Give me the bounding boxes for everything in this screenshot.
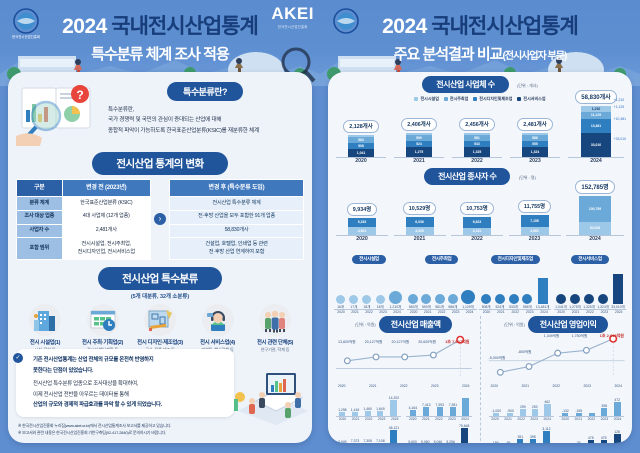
intro-section: ? 특수분류란? 특수분류란, 국가 경쟁력 및 국민의 관심이 증대되는 산업… [8,72,312,148]
subgroup-1-label-0: 563개 [408,304,418,309]
yr: 2024 [462,384,470,388]
classification-item-4: 전시 관련 단체(5) 연구기관, 학계 등 [248,304,302,353]
change-section-title: 전시산업 통계의 변화 [8,152,312,175]
subgroup-1: 전시주최업 563개 590개 581개 586개 1,129개 2020 20… [407,247,477,314]
subgroup-1-years: 2020 2021 2022 2023 2024 [407,310,477,314]
sales-title-row: (단위 : 억원) 전시산업 매출액 [332,316,476,333]
v: 253 [532,405,538,409]
v: 5,046 [434,440,443,443]
employee-year-2023: 2023 [509,236,561,242]
footnotes: ※ 한국전시산업진흥회 누리집(www.akei.or.kr)에서 전시산업통계… [18,423,171,437]
business-bar-2022: 581 533 1,325 [464,133,490,157]
svg-text:?: ? [76,88,83,102]
business-count-plot: 2,128개사 563 508 1,041 2020 2,406개사 [336,104,624,164]
classification-icons-row: 전시 시설업(1) 시설, 장치 등 전시 주최·기획업(2) 전시선 행사계획… [8,300,312,353]
v: -1,000 [491,409,501,413]
yr: 2021 [351,310,359,314]
employee-year-2022: 2022 [451,236,503,242]
profit-subbar-group-3: -35 475 475 128 2020 2021 2022 2023 [559,425,624,443]
sales-revenue-chart: (단위 : 억원) 전시산업 매출액 13,820억원 [332,316,476,443]
special-classification-title: 전시산업 특수분류 [8,267,312,290]
v: 7,413 [422,403,431,407]
yr: 2021 [572,310,580,314]
yr: 2024 [614,384,622,388]
employee-total-2023: 11,755명 [518,200,551,213]
subgroup-0-years: 2020 2021 2022 2023 2024 [334,310,404,314]
table-header-row: 구분 변경 전 (2023년) [17,180,151,197]
employee-count-plot: 9,934명 5,333 4,601 2020 10,529명 6,036 [336,188,624,242]
classification-item-3: 전시 서비스업(4) 마케팅, 행사진행 등 [191,304,245,353]
note-line-0: 기존 전시산업통계는 산업 전체의 규모를 온전히 반영하지 [33,355,227,366]
summary-note: ✓ 기존 전시산업통계는 산업 전체의 규모를 온전히 반영하지 못한다는 단점… [16,349,234,417]
v: 472 [614,398,621,402]
row-after-3: 건설업, 호텔업, 인쇄업 등 관련 전·후방 산업 연계하여 포함 [170,238,304,260]
row-label-1: 조사 대상 업종 [17,210,63,224]
sales-years: 2020 2021 2022 2023 2024 [332,384,476,388]
subgroup-2-label-2: 533개 [509,304,519,309]
yr: 2022 [586,310,594,314]
akei-wordmark: AKEI [271,4,314,24]
row-before-0: 한국표준산업분류 (KSIC) [62,197,150,211]
yr: 2022 [588,417,596,421]
yr: 2021 [497,310,505,314]
left-title: 국내전시산업통계 [111,15,258,38]
employee-bar-2024: 100,759 52,026 [579,196,611,235]
yr: 2021 [422,417,430,421]
right-card: 전시산업 사업체 수 (단위 : 개사) 전시시설업 전시주최업 전시디자인및제… [328,72,632,443]
row-after-2: 58,830개사 [170,224,304,238]
subgroup-bars-0: 16개 17개 18개 18개 1,210개 [334,269,404,309]
v: -159 [492,441,499,443]
subgroup-0-label-4: 1,210개 [389,304,402,309]
employee-year-2020: 2020 [336,236,388,242]
classification-label-4: 전시 관련 단체(5) [248,338,302,346]
intro-lines: 특수분류란, 국가 경쟁력 및 국민의 관심이 증대되는 산업에 대해 종합적 … [108,105,302,136]
profit-highlight: 1조 2,048억원 [600,334,624,339]
subgroup-0: 전시시설업 16개 17개 18개 18개 1,210개 2020 2021 [334,247,404,314]
v: -59 [505,441,511,443]
employee-total-2024: 152,785명 [575,180,614,194]
subgroup-2-label-3: 555개 [522,304,532,309]
business-total-2021: 2,406개사 [401,118,436,131]
right-header-titles: 2024 국내전시산업통계 주요 분석결과 비교(전시사업자 부문) [320,10,640,64]
change-table-wrap: 구분 변경 전 (2023년) 분류 체계 한국표준산업분류 (KSIC) 조사… [8,175,312,260]
employee-total-2020: 9,934명 [347,203,377,216]
operating-profit-chart: (단위 : 억원) 전시산업 영업이익 -5,000억원 [485,316,629,443]
yr: 2023 [431,384,439,388]
note-line-2: 전시산업 특수분류 업종으로 조사대상을 확대하여, [33,379,227,390]
left-year: 2024 [62,15,107,38]
business-bar-2024: 1,210 11,129 13,481 33,010 [581,106,611,157]
sales-subbars: 1,298 1,416 1,460 1,649 14,202 2020 2021… [332,394,476,421]
classification-label-3: 전시 서비스업(4) [191,338,245,346]
yr: 2023 [601,310,609,314]
change-table-before: 구분 변경 전 (2023년) 분류 체계 한국표준산업분류 (KSIC) 조사… [16,179,151,260]
sales-subbar-group-0: 1,298 1,416 1,460 1,649 14,202 2020 2021… [336,394,401,421]
yr: 2024 [466,310,474,314]
business-bar-group-2020: 2,128개사 563 508 1,041 2020 [336,85,386,164]
sales-subbar-group-1: 4,164 7,413 7,393 7,351 2020 2021 2022 [406,394,471,421]
v: 7,308 [363,439,372,443]
sales-point-labels: 13,820억원 20,127억원 20,127억원 20,620억원 1조 7… [334,340,474,345]
yr: 2022 [400,384,408,388]
yr: 2023 [379,310,387,314]
col-header-before: 변경 전 (2023년) [62,180,150,197]
profit-label-2: 1,349억원 [544,334,560,339]
employee-total-2021: 10,529명 [403,202,436,215]
employee-year-2024: 2024 [566,236,624,242]
magnifier-chart-illustration: ? [16,80,102,146]
classification-item-1: 전시 주최·기획업(2) 전시선 행사계획 등 [76,304,130,353]
subgroup-2-years: 2020 2021 2022 2023 2024 [479,310,551,314]
check-circle-icon: ✓ [13,353,23,363]
yr: 2024 [391,417,399,421]
yr: 2022 [552,384,560,388]
isometric-laptop-illustration [226,349,310,425]
v: 7,373 [351,439,360,443]
subgroup-1-label-2: 581개 [435,304,445,309]
employee-bar-2023: 7,155 4,560 [521,215,549,235]
business-bar-2021: 590 524 1,275 [406,133,432,157]
business-deltas-2024: +1,210 +1,129 +10,481 +33,010 [614,98,626,141]
table-row: 분류 체계 한국표준산업분류 (KSIC) [17,197,151,211]
yr: 2021 [504,417,512,421]
subgroup-3-label-2: 1,325개 [583,304,595,309]
subgroup-2-label-4: 13,481개 [536,304,550,309]
sales-unit: (단위 : 억원) [355,322,376,328]
building-icon [29,304,61,336]
employee-bar-group-2021: 10,529명 6,036 4,525 2021 [394,183,446,242]
svg-text:한국전시산업진흥회: 한국전시산업진흥회 [12,34,40,39]
business-total-2023: 2,481개사 [517,118,552,131]
yr: 2021 [424,310,432,314]
profit-subbar-group-2: -159 -59 391 398 3,112 2020 2021 2022 [489,425,554,443]
special-classification-badge: 전시산업 특수분류 [98,267,222,290]
v: 46,121 [389,426,399,430]
subgroup-name-0: 전시시설업 [352,255,386,264]
profit-subbars-2: -159 -59 391 398 3,112 2020 2021 2022 [485,425,629,443]
row-before-3: 전시시설업, 전시주최업, 전시디자인업, 전시서비스업 [62,238,150,260]
profit-subbars: -1,000 -900 259 253 462 2020 2021 2022 [485,394,629,421]
yr: 2023 [530,417,538,421]
subgroup-3-years: 2020 2021 2022 2023 2024 [554,310,626,314]
v: -132 [562,409,569,413]
subcategory-groups-chart: 전시시설업 16개 17개 18개 18개 1,210개 2020 2021 [328,244,632,314]
employee-bar-group-2023: 11,755명 7,155 4,560 2023 [509,185,561,242]
business-total-2022: 2,456개사 [459,118,494,131]
subgroup-name-2: 전시디자인및제조업 [491,255,540,264]
business-year-2022: 2022 [452,158,502,164]
intro-line-1: 특수분류란, [108,105,302,115]
classification-label-1: 전시 주최·기획업(2) [76,338,130,346]
business-year-2023: 2023 [510,158,560,164]
table-row: 조사 대상 업종 4대 사업체 (12개 업종) [17,210,151,224]
yr: 2022 [438,310,446,314]
subgroup-1-label-4: 1,129개 [461,304,475,309]
subgroup-name-1: 전시주최업 [425,255,459,264]
row-label-2: 사업자 수 [17,224,63,238]
calendar-icon [87,304,119,336]
yr: 2021 [352,417,360,421]
table-row: 전시산업 특수분류 체계 [170,197,304,211]
subgroup-0-label-1: 17개 [349,304,358,309]
employee-bar-2020: 5,333 4,601 [348,218,376,235]
yr: 2021 [575,417,583,421]
v: 1,649 [376,407,385,411]
v: 128 [614,430,621,434]
subgroup-3-label-1: 1,275개 [569,304,581,309]
profit-subbar-group-0: -1,000 -900 259 253 462 2020 2021 2022 [489,394,554,421]
profit-label-1: -800억원 [518,350,532,355]
yr: 2024 [540,310,548,314]
note-line-3: 이제 전시산업 전반을 아우르는 데이터를 통해 [33,390,227,401]
v: 3,049 [338,440,347,443]
v: 475 [588,436,594,440]
business-bar-group-2023: 2,481개사 586 555 1,324 2023 [510,86,560,164]
v: 7,351 [449,403,458,407]
delta-2: +10,481 [614,117,626,121]
yr: 2023 [448,417,456,421]
v: -155 [575,409,582,413]
sales-label-3: 20,620억원 [418,340,436,345]
employee-bar-2022: 6,623 4,131 [463,217,491,235]
chevron-right-icon: › [154,213,166,225]
v: 4,164 [409,406,418,410]
employee-bar-group-2024: 152,785명 100,759 52,026 2024 [566,176,624,242]
yr: 2020 [483,310,491,314]
row-label-3: 포함 범위 [17,238,63,260]
left-card: ? 특수분류란? 특수분류란, 국가 경쟁력 및 국민의 관심이 증대되는 산업… [8,72,312,443]
employee-bar-group-2020: 9,934명 5,333 4,601 2020 [336,182,388,242]
sales-subbar-group-3: 5,600 5,060 5,046 5,256 75,648 2020 2021… [406,425,471,443]
yr: 2024 [615,310,623,314]
subgroup-2-label-1: 524개 [495,304,505,309]
yr: 2022 [512,310,520,314]
row-after-1: 전·후방 산업을 모두 포함한 91개 업종 [170,210,304,224]
v: 7,108 [376,439,385,443]
employee-year-2021: 2021 [394,236,446,242]
headset-icon [202,304,234,336]
yr: 2023 [601,417,609,421]
classification-label-0: 전시 시설업(1) [18,338,72,346]
yr: 2022 [365,310,373,314]
yr: 2020 [409,417,417,421]
yr: 2024 [461,417,469,421]
intro-badge: 특수분류란? [167,82,243,101]
profit-unit: (단위 : 억원) [504,322,525,328]
special-classification-count: (5개 대분류, 32개 소분류) [8,292,312,300]
right-subtitle-wrap: 주요 분석결과 비교(전시사업자 부문) [320,43,640,64]
col-header-category: 구분 [17,180,63,197]
subgroup-1-label-1: 590개 [421,304,431,309]
v: 5,060 [421,440,430,443]
kr-association-logo [326,5,366,45]
v: 1,460 [363,407,372,411]
yr: 2020 [338,384,346,388]
intro-line-3: 종합적 파악이 가능하도록 한국표준산업분류(KSIC)를 재분류한 체계 [108,126,302,136]
profit-title-row: (단위 : 억원) 전시산업 영업이익 [485,316,629,333]
delta-1: +1,129 [614,105,626,109]
right-year: 2024 [382,15,427,38]
business-year-2020: 2020 [336,158,386,164]
profit-label-0: -5,000억원 [489,356,506,361]
intro-text-block: 특수분류란? 특수분류란, 국가 경쟁력 및 국민의 관심이 증대되는 산업에 … [108,80,302,136]
business-total-2024: 58,830개사 [575,90,616,104]
v: 1,416 [351,408,360,412]
v: 462 [544,400,551,404]
kr-association-logo: 한국전시산업진흥회 [6,5,46,45]
employee-bar-group-2022: 10,753명 6,623 4,131 2022 [451,184,503,242]
subgroup-0-label-2: 18개 [362,304,371,309]
v: 5,256 [446,440,455,443]
classification-item-2: 전시 디자인·제조업(3) 공사, 용품 제조 등 [133,304,187,353]
yr: 2023 [378,417,386,421]
yr: 2022 [435,417,443,421]
yr: 2020 [557,310,565,314]
change-badge: 전시산업 통계의 변화 [92,152,227,175]
sales-label-1: 20,127억원 [365,340,383,345]
table-header-row: 변경 후 (특수분류 도입) [170,180,304,197]
yr: 2020 [410,310,418,314]
sales-subbars-2: 3,049 7,373 7,308 7,108 46,121 2020 2021… [332,425,476,443]
v: 5,600 [408,440,417,443]
business-bar-group-2021: 2,406개사 590 524 1,275 2021 [394,85,444,164]
summary-note-body: 기존 전시산업통계는 산업 전체의 규모를 온전히 반영하지 못한다는 단점이 … [23,355,227,411]
business-bar-2023: 586 555 1,324 [522,133,548,157]
subgroup-3-label-4: 33,010개 [611,304,625,309]
row-before-1: 4대 사업체 (12개 업종) [62,210,150,224]
business-bar-2020: 563 508 1,041 [348,135,374,157]
business-total-2020: 2,128개사 [343,120,378,133]
blueprint-icon [144,304,176,336]
business-bar-group-2024: 58,830개사 1,210 11,129 13,481 33,010 2024… [568,86,624,164]
yr: 2022 [365,417,373,421]
table-row: 포함 범위 전시시설업, 전시주최업, 전시디자인업, 전시서비스업 [17,238,151,260]
subgroup-2: 전시디자인및제조업 508개 524개 533개 555개 13,481개 20… [479,247,551,314]
v: -35 [575,441,581,443]
row-before-2: 2,481개사 [62,224,150,238]
change-table-after: 변경 후 (특수분류 도입) 전시산업 특수분류 체계 전·후방 산업을 모두 … [169,179,304,260]
delta-0: +1,210 [614,98,626,102]
v: 259 [520,405,526,409]
subgroup-bars-3: 1,041개 1,275개 1,325개 1,324개 33,010개 [554,269,626,309]
v: 3,112 [542,427,550,431]
yr: 2024 [543,417,551,421]
yr: 2024 [393,310,401,314]
classification-label-2: 전시 디자인·제조업(3) [133,338,187,346]
left-subtitle: 특수분류 체계 조사 적용 [0,43,320,64]
employee-count-unit: (단위 : 명) [519,175,536,180]
charts-divider [480,316,481,443]
row-label-0: 분류 체계 [17,197,63,211]
table-row: 58,830개사 [170,224,304,238]
profit-title: 전시산업 영업이익 [528,316,609,333]
right-subtitle: 주요 분석결과 비교 [394,46,503,63]
left-panel: 한국전시산업진흥회 AKEI 한국전시산업진흥회 2024 국내전시산업통계 특… [0,0,320,453]
akei-logo-subtitle: 한국전시산업진흥회 [271,24,314,29]
subgroup-bars-2: 508개 524개 533개 555개 13,481개 [479,269,551,309]
profit-years: 2020 2021 2022 2023 2024 [485,384,629,388]
subgroup-0-label-3: 18개 [376,304,385,309]
employee-bar-2021: 6,036 4,525 [406,217,434,235]
yr: 2021 [521,384,529,388]
yr: 2020 [491,417,499,421]
sales-highlight: 1조 7,027억원 [445,340,469,345]
note-line-1: 못한다는 단점이 있었습니다. [33,366,227,377]
people-icon [259,304,291,336]
bottom-charts-row: (단위 : 억원) 전시산업 매출액 13,820억원 [328,314,632,443]
v: 398 [601,404,607,408]
infographic-root: 한국전시산업진흥회 AKEI 한국전시산업진흥회 2024 국내전시산업통계 특… [0,0,640,453]
right-title-line: 2024 국내전시산업통계 [320,10,640,40]
yr: 2024 [614,417,622,421]
business-count-chart: 전시산업 사업체 수 (단위 : 개사) 전시시설업 전시주최업 전시디자인및제… [328,74,632,166]
subgroup-0-label-0: 16개 [336,304,345,309]
sales-label-0: 13,820억원 [338,340,356,345]
profit-point-labels: -5,000억원 -800억원 1,349억원 1,750억원 1조 2,048… [487,334,627,361]
row-after-0: 전시산업 특수분류 체계 [170,197,304,211]
profit-label-3: 1,750억원 [572,334,588,339]
subgroup-3-label-3: 1,324개 [597,304,609,309]
right-subtitle-small: (전시사업자 부문) [502,51,566,62]
employee-total-2022: 10,753명 [460,202,493,215]
yr: 2023 [526,310,534,314]
right-panel: 2024 국내전시산업통계 주요 분석결과 비교(전시사업자 부문) 전시산업 … [320,0,640,453]
yr: 2020 [562,417,570,421]
sales-subbar-group-2: 3,049 7,373 7,308 7,108 46,121 2020 2021… [336,425,401,443]
yr: 2023 [452,310,460,314]
v: -900 [507,409,514,413]
business-bar-group-2022: 2,456개사 581 533 1,325 2022 [452,86,502,164]
sales-label-2: 20,127억원 [392,340,410,345]
delta-3: +33,010 [614,137,626,141]
table-row: 전·후방 산업을 모두 포함한 91개 업종 [170,210,304,224]
subgroup-3-label-0: 1,041개 [555,304,567,309]
yr: 2020 [339,417,347,421]
subgroup-bars-1: 563개 590개 581개 586개 1,129개 [407,269,477,309]
subgroup-1-label-3: 586개 [448,304,458,309]
v: 7,393 [435,403,444,407]
profit-subbar-group-1: -132 -155 398 472 2020 2021 2022 [559,394,624,421]
subgroup-name-3: 전시서비스업 [571,255,609,264]
subgroup-2-label-0: 508개 [481,304,491,309]
v: 398 [530,435,536,439]
akei-logo: AKEI 한국전시산업진흥회 [271,4,314,29]
yr: 2023 [583,384,591,388]
table-row: 사업자 수 2,481개사 [17,224,151,238]
note-line-4: 산업의 규모와 경제적 파급효과를 파악 할 수 있게 되었습니다. [33,400,227,411]
business-year-2021: 2021 [394,158,444,164]
v: 391 [517,435,523,439]
right-title: 국내전시산업통계 [431,15,578,38]
subgroup-3: 전시서비스업 1,041개 1,275개 1,325개 1,324개 33,01… [554,247,626,314]
yr: 2021 [369,384,377,388]
yr: 2022 [517,417,525,421]
v: 75,648 [459,424,469,428]
employee-count-chart: 전시산업 종사자 수 (단위 : 명) 9,934명 5,333 4,601 2… [328,166,632,244]
v: 1,298 [338,408,347,412]
yr: 2020 [491,384,499,388]
yr: 2020 [337,310,345,314]
sales-title: 전시산업 매출액 [379,316,453,333]
business-year-2024: 2024 [568,158,624,164]
footnote-1: ※ 보고서와 관련 내용은 한국전시산업진흥회 기반구축팀(02-417-284… [18,430,171,437]
v: 475 [601,436,607,440]
col-header-after: 변경 후 (특수분류 도입) [170,180,304,197]
v: 14,202 [389,396,399,400]
intro-line-2: 국가 경쟁력 및 국민의 관심이 증대되는 산업에 대해 [108,115,302,125]
table-row: 건설업, 호텔업, 인쇄업 등 관련 전·후방 산업 연계하여 포함 [170,238,304,260]
